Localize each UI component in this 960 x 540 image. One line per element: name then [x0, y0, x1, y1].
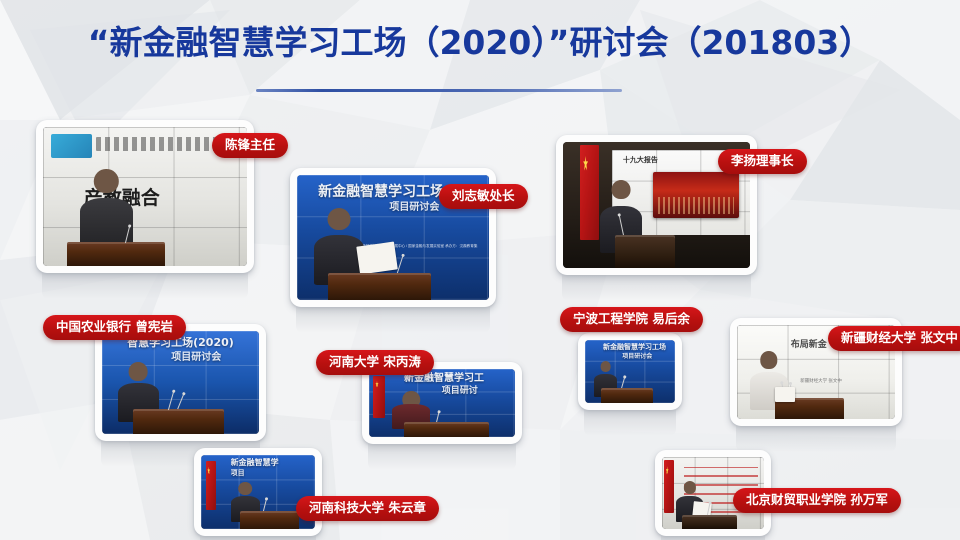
photo-frame: 智慧学习工场(2020) 项目研讨会 — [95, 324, 266, 441]
speaker-silhouette — [80, 169, 133, 250]
screen-headline: 新金融智慧学习工场 项目研讨会 — [603, 343, 671, 361]
podium — [615, 235, 675, 268]
photo-frame: 新金融智慧学 项目 — [194, 448, 322, 536]
photo-frame: 新金融智慧学习工场 项目研讨会 — [578, 333, 682, 410]
screen-headline: 智慧学习工场(2020) 项目研讨会 — [127, 336, 253, 364]
national-flag — [580, 145, 599, 241]
photo-card-li-yang[interactable]: 十九大报告 李扬理事长 — [556, 135, 757, 275]
photo-card-yi-houyu[interactable]: 新金融智慧学习工场 项目研讨会 宁波工程学院 易后余 — [578, 333, 682, 410]
screen-subtext: 新疆财经大学 张文中 — [800, 378, 882, 384]
national-flag — [206, 461, 216, 510]
photo-card-sun-wanjun[interactable]: 北京财贸职业学院 孙万军 — [655, 450, 771, 536]
podium — [601, 388, 653, 403]
congress-hall-photo — [653, 172, 739, 217]
podium — [133, 409, 224, 434]
podium — [328, 273, 432, 301]
photo-card-zhu-yunzhang[interactable]: 新金融智慧学 项目 河南科技大学 朱云章 — [194, 448, 322, 536]
badge-zeng-xianyan: 中国农业银行 曾宪岩 — [43, 315, 186, 340]
photo-card-zhang-wenzhong[interactable]: 布局新金 新疆财经大学 张文中 新疆财经大学 张文中 — [730, 318, 902, 426]
title-underline — [256, 89, 622, 92]
national-flag — [373, 376, 385, 418]
photo-image: 新金融智慧学 项目 — [201, 455, 315, 529]
podium — [404, 422, 489, 437]
speech-paper — [357, 241, 399, 274]
slide-canvas: “新金融智慧学习工场（2020）”研讨会（201803） 产教融合 陈锋主任 — [0, 0, 960, 540]
slide-title-block: “新金融智慧学习工场（2020）”研讨会（201803） — [0, 22, 960, 63]
badge-liu-zhimin: 刘志敏处长 — [439, 184, 528, 209]
page-title: “新金融智慧学习工场（2020）”研讨会（201803） — [0, 22, 960, 63]
speech-paper — [775, 387, 796, 402]
badge-sun-wanjun: 北京财贸职业学院 孙万军 — [733, 488, 901, 513]
badge-yi-houyu: 宁波工程学院 易后余 — [560, 307, 703, 332]
badge-li-yang: 李扬理事长 — [718, 149, 807, 174]
photo-card-zeng-xianyan[interactable]: 智慧学习工场(2020) 项目研讨会 中国农业银行 曾宪岩 — [95, 324, 266, 441]
podium — [682, 515, 737, 529]
national-flag — [664, 460, 674, 513]
photo-image: 新金融智慧学习工场 项目研讨会 — [585, 340, 675, 403]
badge-song-bingtao: 河南大学 宋丙涛 — [316, 350, 434, 375]
photo-card-song-bingtao[interactable]: 新金融智慧学习工 项目研讨 河南大学 宋丙涛 — [362, 362, 522, 444]
badge-chen-feng: 陈锋主任 — [212, 133, 288, 158]
podium — [240, 511, 299, 529]
photo-image: 新金融智慧学习工 项目研讨 — [369, 369, 515, 437]
badge-zhu-yunzhang: 河南科技大学 朱云章 — [296, 496, 439, 521]
badge-zhang-wenzhong: 新疆财经大学 张文中 — [828, 326, 960, 351]
podium — [67, 242, 165, 266]
screen-headline: 新金融智慧学 项目 — [231, 458, 311, 478]
photo-card-chen-feng[interactable]: 产教融合 陈锋主任 — [36, 120, 254, 273]
photo-image: 智慧学习工场(2020) 项目研讨会 — [102, 331, 259, 434]
photo-card-liu-zhimin[interactable]: 新金融智慧学习工场(2 项目研讨会 教育部学校规划建设发展中心 / 国家金融与发… — [290, 168, 496, 307]
org-logo-icon — [51, 134, 92, 158]
